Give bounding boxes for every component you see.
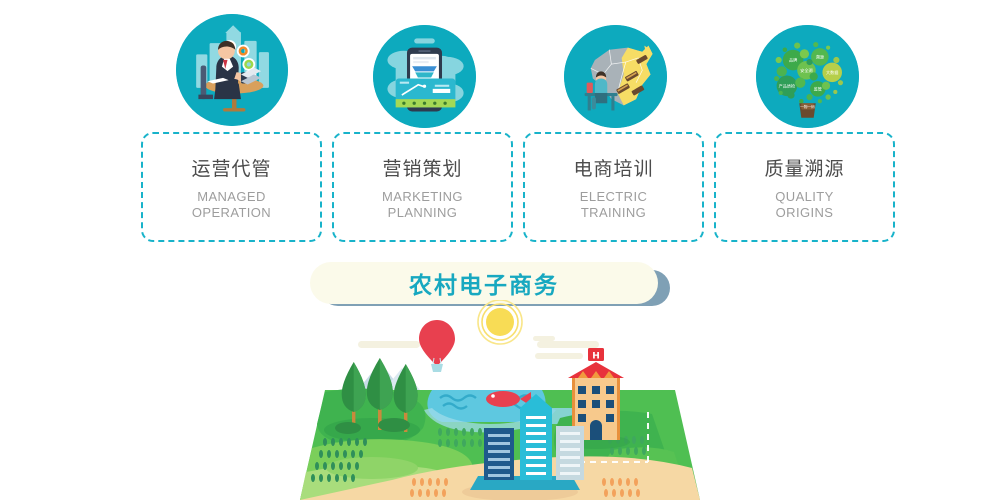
marketing-planning-icon[interactable] xyxy=(373,25,476,128)
hot-air-balloon-icon xyxy=(419,320,455,372)
svg-text:产品质检: 产品质检 xyxy=(779,82,795,88)
card-title-cn: 营销策划 xyxy=(382,154,462,181)
hotel-sign: H xyxy=(592,352,600,362)
rural-landscape-illustration: H xyxy=(0,300,1000,500)
service-card-electric-training[interactable]: 电商培训 ELECTRIC TRAINING xyxy=(523,132,704,242)
svg-text:溯源: 溯源 xyxy=(816,53,824,59)
managed-operation-icon[interactable] xyxy=(176,14,288,126)
sun-icon xyxy=(478,300,522,344)
svg-text:品牌: 品牌 xyxy=(789,57,797,63)
card-title-en-line2: ORIGINS xyxy=(775,205,833,221)
card-title-en-line1: MARKETING xyxy=(382,189,463,205)
banner-label: 农村电子商务 xyxy=(409,266,559,300)
service-card-marketing-planning[interactable]: 营销策划 MARKETING PLANNING xyxy=(332,132,513,242)
card-title-en: MARKETING PLANNING xyxy=(382,189,463,221)
card-title-en: MANAGED OPERATION xyxy=(192,189,271,221)
quality-origins-icon[interactable]: 品牌 溯源 安全溯 大数据 产品质检 监管 一物一码 xyxy=(756,25,859,128)
banner-pill[interactable]: 农村电子商务 xyxy=(310,262,658,304)
svg-text:一物一码: 一物一码 xyxy=(800,104,815,109)
svg-text:安全溯: 安全溯 xyxy=(800,67,812,73)
card-title-en-line1: ELECTRIC xyxy=(580,189,648,205)
card-title-en-line2: OPERATION xyxy=(192,205,271,221)
card-title-en: QUALITY ORIGINS xyxy=(775,189,833,221)
card-title-cn: 运营代管 xyxy=(191,154,271,181)
card-title-en-line1: MANAGED xyxy=(192,189,271,205)
card-title-cn: 电商培训 xyxy=(573,154,653,181)
service-card-quality-origins[interactable]: 质量溯源 QUALITY ORIGINS xyxy=(714,132,895,242)
electric-training-icon[interactable] xyxy=(564,25,667,128)
card-title-cn: 质量溯源 xyxy=(764,154,844,181)
service-card-managed-operation[interactable]: 运营代管 MANAGED OPERATION xyxy=(141,132,322,242)
card-title-en-line1: QUALITY xyxy=(775,189,833,205)
svg-text:大数据: 大数据 xyxy=(826,69,838,75)
icon-row: 品牌 溯源 安全溯 大数据 产品质检 监管 一物一码 xyxy=(0,0,1000,135)
card-title-en: ELECTRIC TRAINING xyxy=(580,189,648,221)
card-title-en-line2: PLANNING xyxy=(382,205,463,221)
clouds xyxy=(358,336,599,359)
card-title-en-line2: TRAINING xyxy=(580,205,648,221)
infographic-stage: 品牌 溯源 安全溯 大数据 产品质检 监管 一物一码 运营代管 MANAGED … xyxy=(0,0,1000,500)
service-cards: 运营代管 MANAGED OPERATION 营销策划 MARKETING PL… xyxy=(0,132,1000,244)
svg-text:监管: 监管 xyxy=(814,85,822,91)
